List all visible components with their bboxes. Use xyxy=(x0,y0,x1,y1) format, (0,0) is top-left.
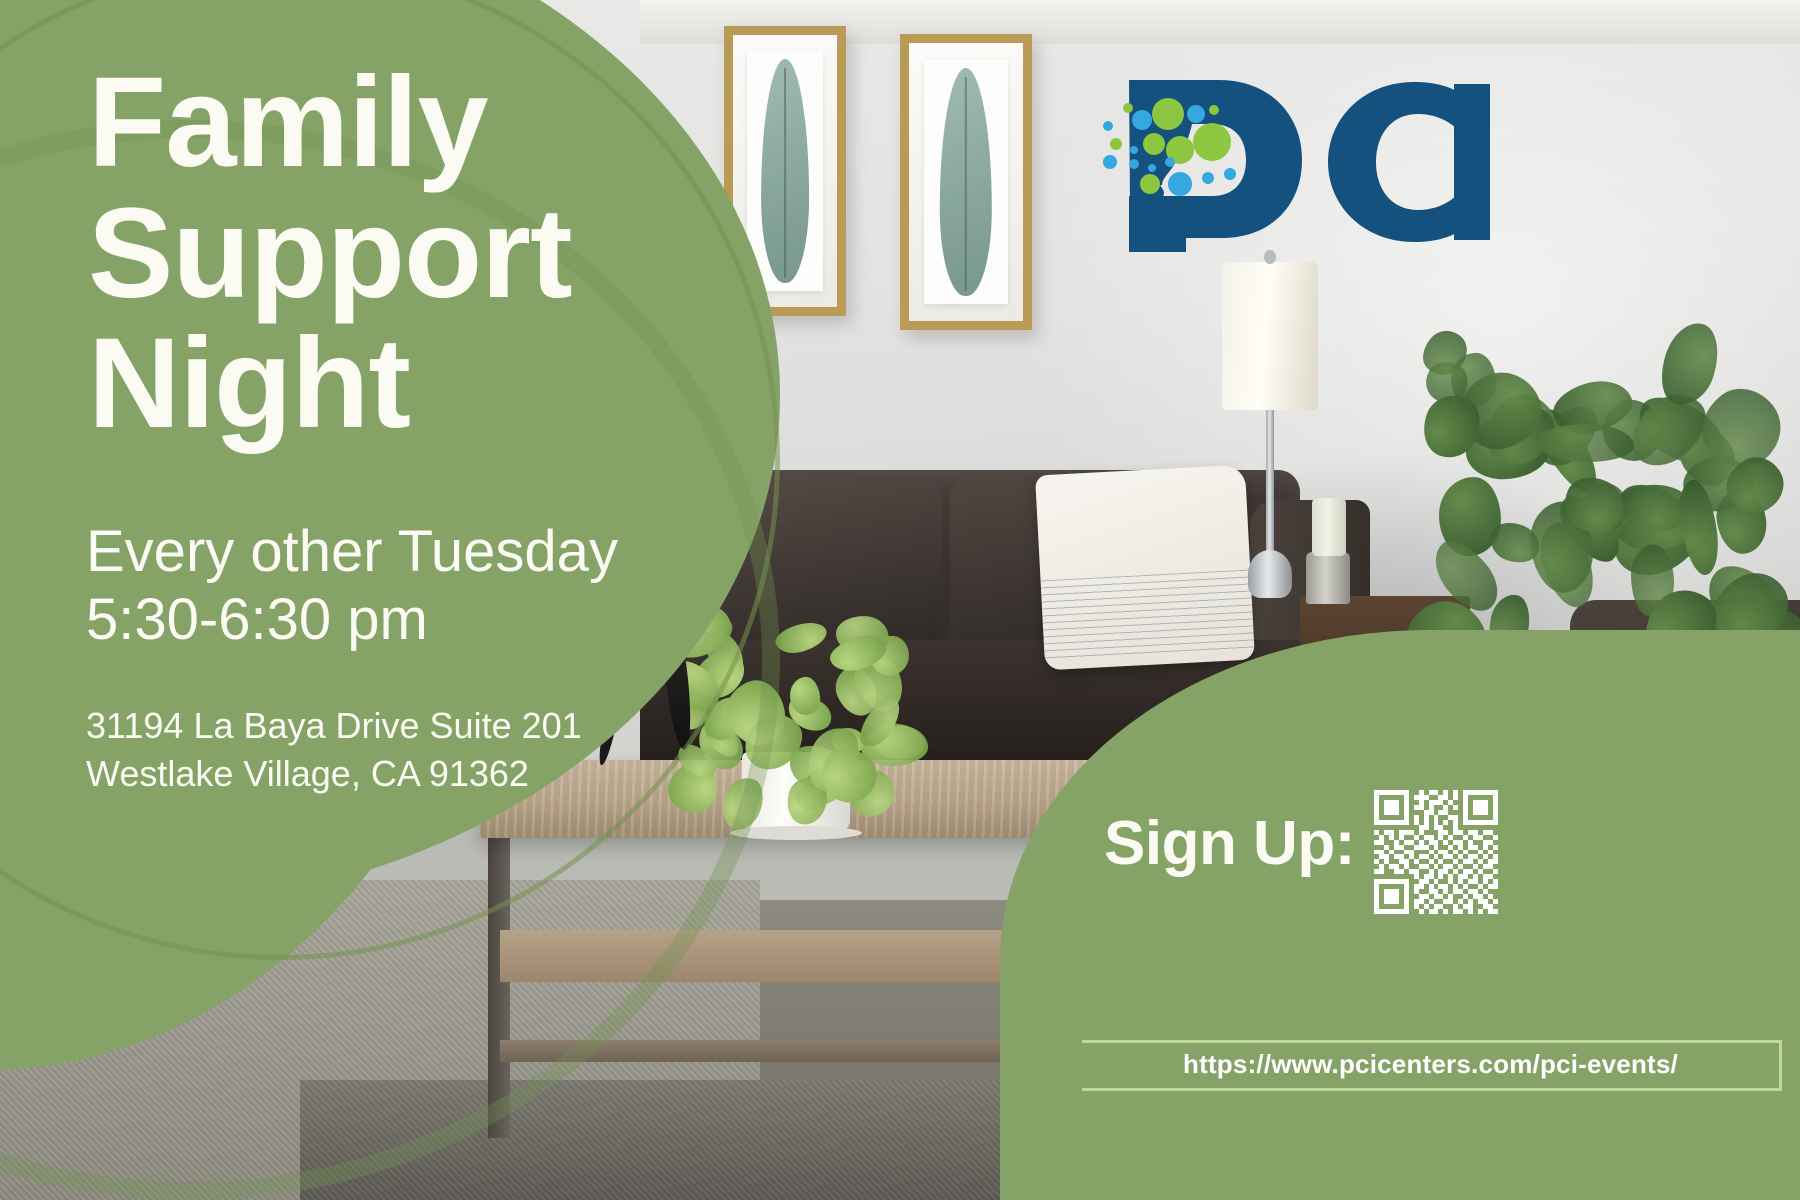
schedule-frequency: Every other Tuesday xyxy=(86,518,618,586)
signup-url[interactable]: https://www.pcicenters.com/pci-events/ xyxy=(1092,1049,1769,1080)
lamp-stem xyxy=(1266,410,1274,560)
lamp-base xyxy=(1248,550,1292,598)
title-line-2: Support xyxy=(88,189,728,320)
logo-dot-cloud xyxy=(1103,98,1236,196)
page-title: Family Support Night xyxy=(88,58,728,450)
event-address: 31194 La Baya Drive Suite 201 Westlake V… xyxy=(86,702,582,797)
throw-pillow xyxy=(1035,465,1255,671)
potted-plant-large xyxy=(1400,330,1800,660)
title-line-3: Night xyxy=(88,319,728,450)
pci-logo xyxy=(1096,58,1496,268)
schedule-time: 5:30-6:30 pm xyxy=(86,586,618,654)
logo-letter-i xyxy=(1454,84,1490,240)
lamp-shade xyxy=(1222,262,1318,410)
qr-code-icon[interactable] xyxy=(1374,790,1498,914)
signup-block: Sign Up: xyxy=(1104,790,1784,1020)
address-line-2: Westlake Village, CA 91362 xyxy=(86,750,582,798)
candle-holder xyxy=(1306,552,1350,604)
event-flyer: Family Support Night Every other Tuesday… xyxy=(0,0,1800,1200)
title-line-1: Family xyxy=(88,58,728,189)
signup-label: Sign Up: xyxy=(1104,808,1355,879)
signup-url-box[interactable]: https://www.pcicenters.com/pci-events/ xyxy=(1082,1040,1782,1091)
framed-leaf-art-icon xyxy=(900,34,1032,330)
logo-letter-c xyxy=(1328,82,1458,242)
address-line-1: 31194 La Baya Drive Suite 201 xyxy=(86,702,582,750)
candle xyxy=(1312,498,1346,556)
event-schedule: Every other Tuesday 5:30-6:30 pm xyxy=(86,518,618,655)
